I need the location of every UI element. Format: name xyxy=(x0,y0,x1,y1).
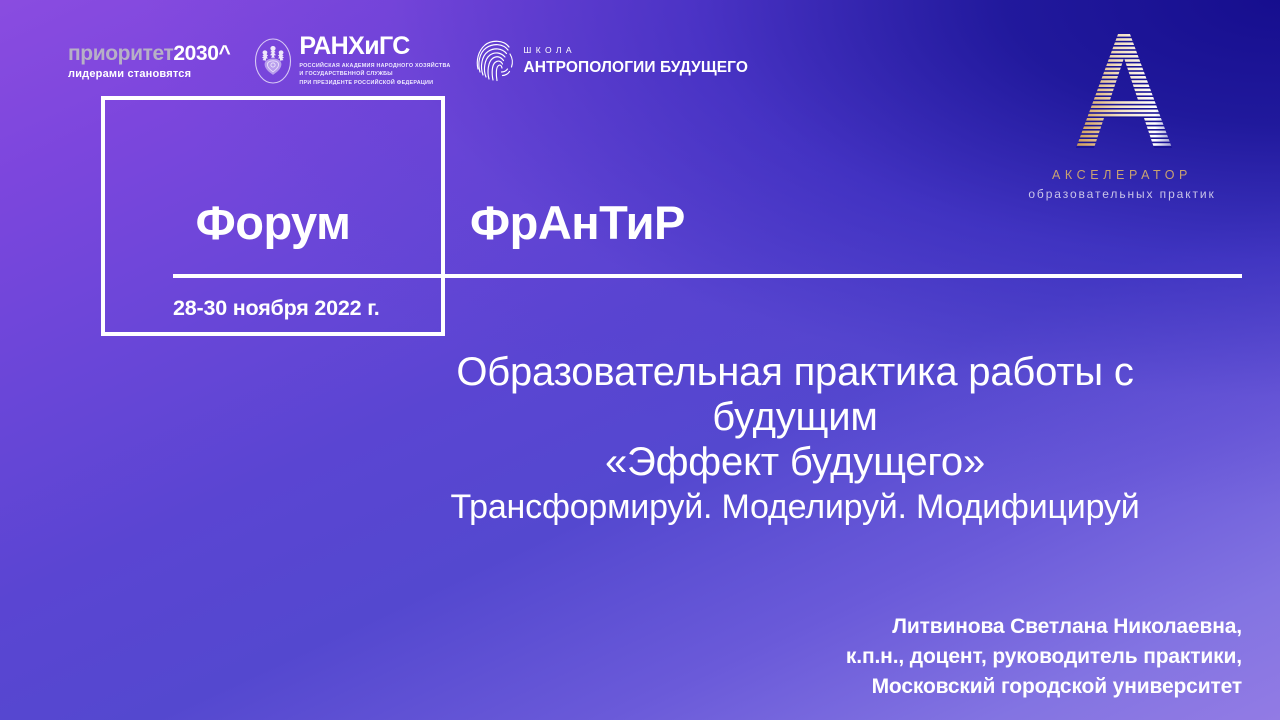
priority-2030-word-dim: приоритет xyxy=(68,42,173,65)
priority-2030-wordmark: приоритет2030^ xyxy=(68,43,230,64)
forum-date: 28-30 ноября 2022 г. xyxy=(173,296,380,321)
priority-2030-tagline: лидерами становятся xyxy=(68,69,230,80)
ranepa-text-block: РАНХиГС РОССИЙСКАЯ АКАДЕМИЯ НАРОДНОГО ХО… xyxy=(299,34,450,87)
accelerator-subtitle: образовательных практик xyxy=(1022,187,1222,201)
horizontal-divider xyxy=(173,274,1242,278)
title-line-4: Трансформируй. Моделируй. Модифицируй xyxy=(330,488,1260,527)
author-affiliation: Московский городской университет xyxy=(846,672,1242,702)
priority-2030-word-lit: 2030^ xyxy=(173,42,230,65)
slide-title: Образовательная практика работы с будущи… xyxy=(330,350,1260,527)
ranepa-subtitle: РОССИЙСКАЯ АКАДЕМИЯ НАРОДНОГО ХОЗЯЙСТВА … xyxy=(299,62,450,87)
ranepa-subtitle-line-3: ПРИ ПРЕЗИДЕНТЕ РОССИЙСКОЙ ФЕДЕРАЦИИ xyxy=(299,79,450,87)
fingerprint-face-icon xyxy=(475,39,515,83)
accelerator-letter-a-icon xyxy=(1056,30,1188,152)
ranepa-subtitle-line-1: РОССИЙСКАЯ АКАДЕМИЯ НАРОДНОГО ХОЗЯЙСТВА xyxy=(299,62,450,70)
author-position: к.п.н., доцент, руководитель практики, xyxy=(846,642,1242,672)
ranepa-subtitle-line-2: И ГОСУДАРСТВЕННОЙ СЛУЖБЫ xyxy=(299,70,450,78)
school-label: ШКОЛА xyxy=(524,46,749,55)
accelerator-name: АКСЕЛЕРАТОР xyxy=(1022,168,1222,182)
double-headed-eagle-crest-icon xyxy=(254,38,292,84)
author-block: Литвинова Светлана Николаевна, к.п.н., д… xyxy=(846,612,1242,702)
title-line-1: Образовательная практика работы с xyxy=(330,350,1260,395)
school-of-anthropology-logo: ШКОЛА АНТРОПОЛОГИИ БУДУЩЕГО xyxy=(475,39,749,83)
priority-2030-logo: приоритет2030^ лидерами становятся xyxy=(68,41,230,80)
school-text-block: ШКОЛА АНТРОПОЛОГИИ БУДУЩЕГО xyxy=(524,46,749,76)
school-name: АНТРОПОЛОГИИ БУДУЩЕГО xyxy=(524,60,749,76)
ranepa-name: РАНХиГС xyxy=(299,34,450,59)
forum-label: Форум xyxy=(101,199,445,246)
ranepa-logo: РАНХиГС РОССИЙСКАЯ АКАДЕМИЯ НАРОДНОГО ХО… xyxy=(254,34,450,87)
presentation-slide: приоритет2030^ лидерами становятся РАНХи… xyxy=(0,0,1280,720)
accelerator-logo: АКСЕЛЕРАТОР образовательных практик xyxy=(1022,30,1222,201)
author-name: Литвинова Светлана Николаевна, xyxy=(846,612,1242,642)
partner-logos-strip: приоритет2030^ лидерами становятся РАНХи… xyxy=(68,34,748,87)
title-line-2: будущим xyxy=(330,395,1260,440)
title-line-3: «Эффект будущего» xyxy=(330,440,1260,485)
forum-name: ФрАнТиР xyxy=(470,199,685,246)
